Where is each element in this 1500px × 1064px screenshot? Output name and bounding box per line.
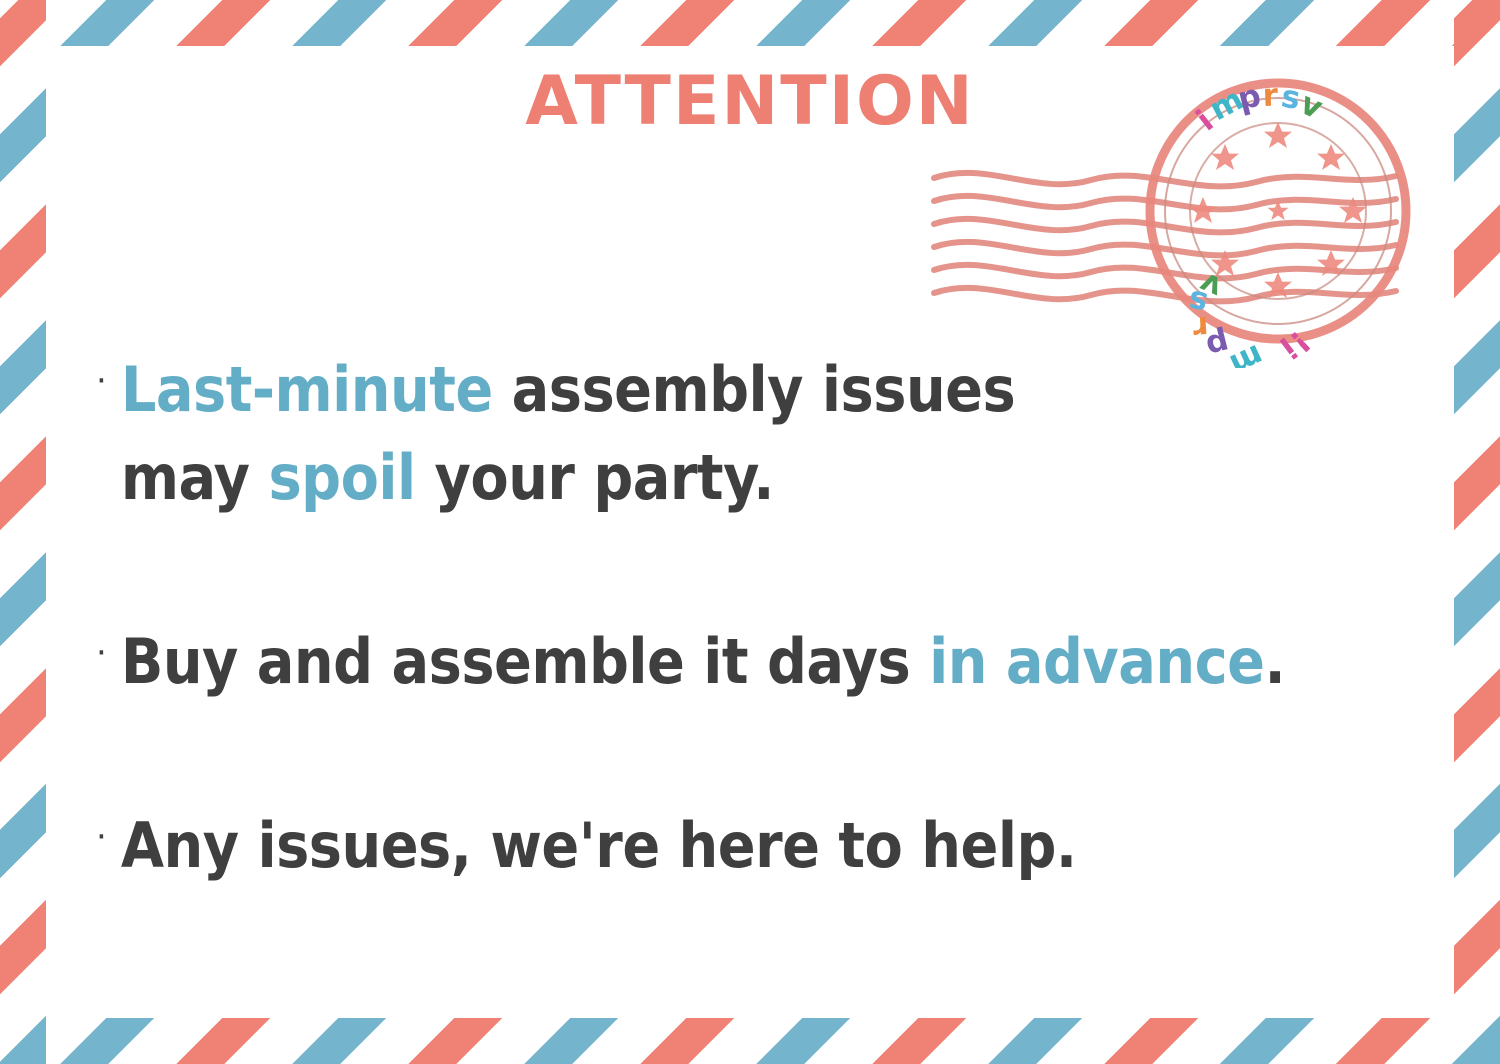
highlight-text: in advance: [929, 625, 1264, 698]
text-line: Buy and assemble it days in advance.: [121, 618, 1436, 706]
list-item-text: Buy and assemble it days in advance.: [121, 618, 1436, 706]
stamp-stars: [1189, 122, 1367, 298]
svg-text:v: v: [1194, 265, 1227, 306]
border-stripe-right: [1454, 0, 1500, 1064]
plain-text: Any issues, we're here to help.: [121, 809, 1077, 882]
text-line: may spoil your party.: [121, 434, 1436, 522]
list-item-text: Last-minute assembly issues may spoil yo…: [121, 346, 1436, 522]
card-body: ATTENTION: [46, 46, 1454, 1018]
plain-text: may: [121, 441, 269, 514]
plain-text: .: [1265, 625, 1286, 698]
list-item: · Buy and assemble it days in advance.: [96, 618, 1436, 706]
airmail-envelope-card: ATTENTION: [0, 0, 1500, 1064]
highlight-text: spoil: [268, 441, 415, 514]
border-stripe-left: [0, 0, 46, 1064]
svg-text:r: r: [1192, 309, 1210, 346]
plain-text: Buy and assemble it days: [121, 625, 929, 698]
bullet-marker: ·: [96, 346, 107, 416]
text-line: Last-minute assembly issues: [121, 346, 1436, 434]
page-title: ATTENTION: [46, 62, 1454, 141]
cancellation-waves: [934, 173, 1396, 302]
bullet-list: · Last-minute assembly issues may spoil …: [96, 346, 1436, 890]
plain-text: assembly issues: [512, 353, 1016, 426]
list-item: · Any issues, we're here to help.: [96, 802, 1436, 890]
text-line: Any issues, we're here to help.: [121, 802, 1436, 890]
highlight-text: Last-minute: [121, 353, 512, 426]
bullet-marker: ·: [96, 618, 107, 688]
border-stripe-top: [0, 0, 1500, 46]
plain-text: your party.: [416, 441, 774, 514]
border-stripe-bottom: [0, 1018, 1500, 1064]
bullet-marker: ·: [96, 802, 107, 872]
list-item: · Last-minute assembly issues may spoil …: [96, 346, 1436, 522]
svg-text:s: s: [1185, 282, 1211, 321]
list-item-text: Any issues, we're here to help.: [121, 802, 1436, 890]
